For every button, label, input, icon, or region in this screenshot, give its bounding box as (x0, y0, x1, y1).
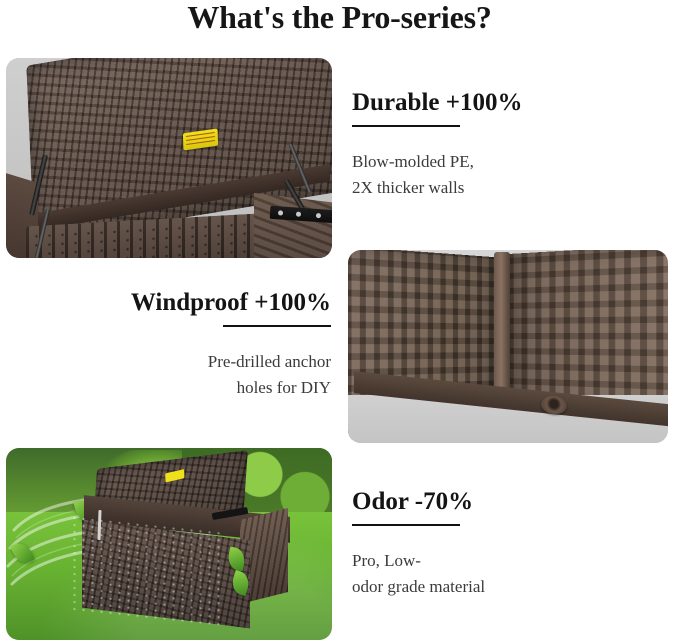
feature-body-durable: Blow-molded PE, 2X thicker walls (352, 149, 652, 201)
feature-text-durable: Durable +100% Blow-molded PE, 2X thicker… (352, 88, 652, 201)
feature-heading-odor: Odor -70% (352, 487, 652, 517)
feature-image-odor (6, 448, 332, 640)
heading-underline (352, 524, 460, 526)
feature-heading-windproof: Windproof +100% (31, 288, 331, 318)
warning-sticker-icon (165, 469, 184, 482)
feature-body-line-1: Pro, Low- (352, 548, 652, 574)
feature-body-line-2: holes for DIY (31, 375, 331, 401)
feature-text-windproof: Windproof +100% Pre-drilled anchor holes… (31, 288, 331, 401)
feature-image-durable (6, 58, 332, 258)
feature-body-windproof: Pre-drilled anchor holes for DIY (31, 349, 331, 401)
deck-box-right-wall (254, 193, 332, 258)
feature-heading-durable: Durable +100% (352, 88, 652, 118)
heading-underline (352, 125, 460, 127)
feature-body-line-2: 2X thicker walls (352, 175, 652, 201)
feature-body-odor: Pro, Low- odor grade material (352, 548, 652, 600)
heading-underline (223, 325, 331, 327)
feature-image-windproof (348, 250, 668, 443)
feature-body-line-1: Pre-drilled anchor (31, 349, 331, 375)
odor-mist-particles (70, 514, 220, 626)
feature-body-line-1: Blow-molded PE, (352, 149, 652, 175)
infographic-page: What's the Pro-series? Durable +100% Blo… (0, 0, 679, 644)
feature-body-line-2: odor grade material (352, 574, 652, 600)
feature-text-odor: Odor -70% Pro, Low- odor grade material (352, 487, 652, 600)
page-title: What's the Pro-series? (0, 0, 679, 36)
